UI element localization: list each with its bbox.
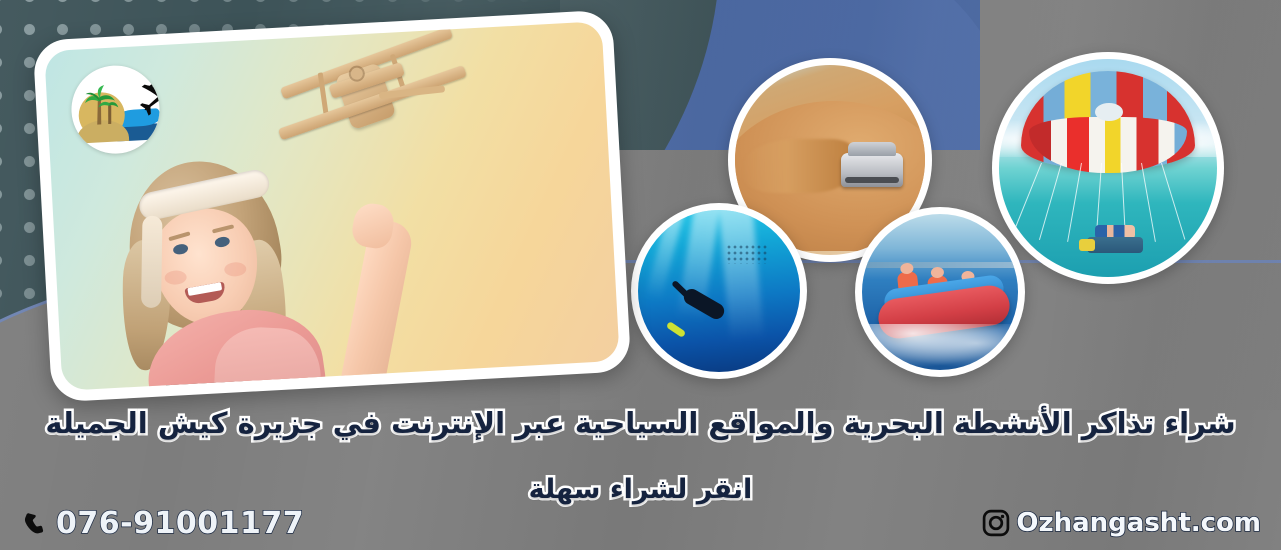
phone-contact[interactable]: 076-91001177 bbox=[22, 506, 304, 541]
hero-photo-card[interactable]: ✈ bbox=[33, 10, 632, 403]
banana-boat-photo bbox=[862, 214, 1018, 370]
subline-cta: انقر لشراء سهلة bbox=[0, 474, 1281, 505]
hero-photo: ✈ bbox=[44, 21, 620, 391]
activity-circle-parasailing[interactable] bbox=[992, 52, 1224, 284]
pilot-cap-strap bbox=[141, 216, 162, 308]
phone-icon bbox=[22, 509, 48, 539]
palm-tree-icon bbox=[82, 83, 120, 127]
child-figure bbox=[104, 109, 370, 391]
phone-number: 076-91001177 bbox=[56, 506, 304, 541]
activity-circle-banana-boat[interactable] bbox=[855, 207, 1025, 377]
instagram-contact[interactable]: Ozhangasht.com bbox=[982, 508, 1261, 538]
headline-text: شراء تذاكر الأنشطة البحرية والمواقع السي… bbox=[0, 406, 1281, 440]
parachute-vent bbox=[1095, 103, 1123, 121]
diver-fin bbox=[666, 321, 686, 338]
instagram-handle: Ozhangasht.com bbox=[1016, 508, 1261, 538]
parasailing-photo bbox=[999, 59, 1217, 277]
fish-school bbox=[726, 244, 768, 264]
sand-spray bbox=[743, 139, 853, 193]
offroad-suv bbox=[841, 153, 903, 187]
light-ray bbox=[718, 210, 764, 341]
activity-circle-scuba-diving[interactable] bbox=[631, 203, 807, 379]
parasail-raft bbox=[1087, 237, 1143, 253]
water-spray bbox=[868, 324, 1018, 370]
scuba-diving-photo bbox=[638, 210, 800, 372]
instagram-icon bbox=[982, 509, 1010, 537]
promo-banner: ✈ شراء تذاكر الأنشطة البحرية والمواقع ال… bbox=[0, 0, 1281, 550]
